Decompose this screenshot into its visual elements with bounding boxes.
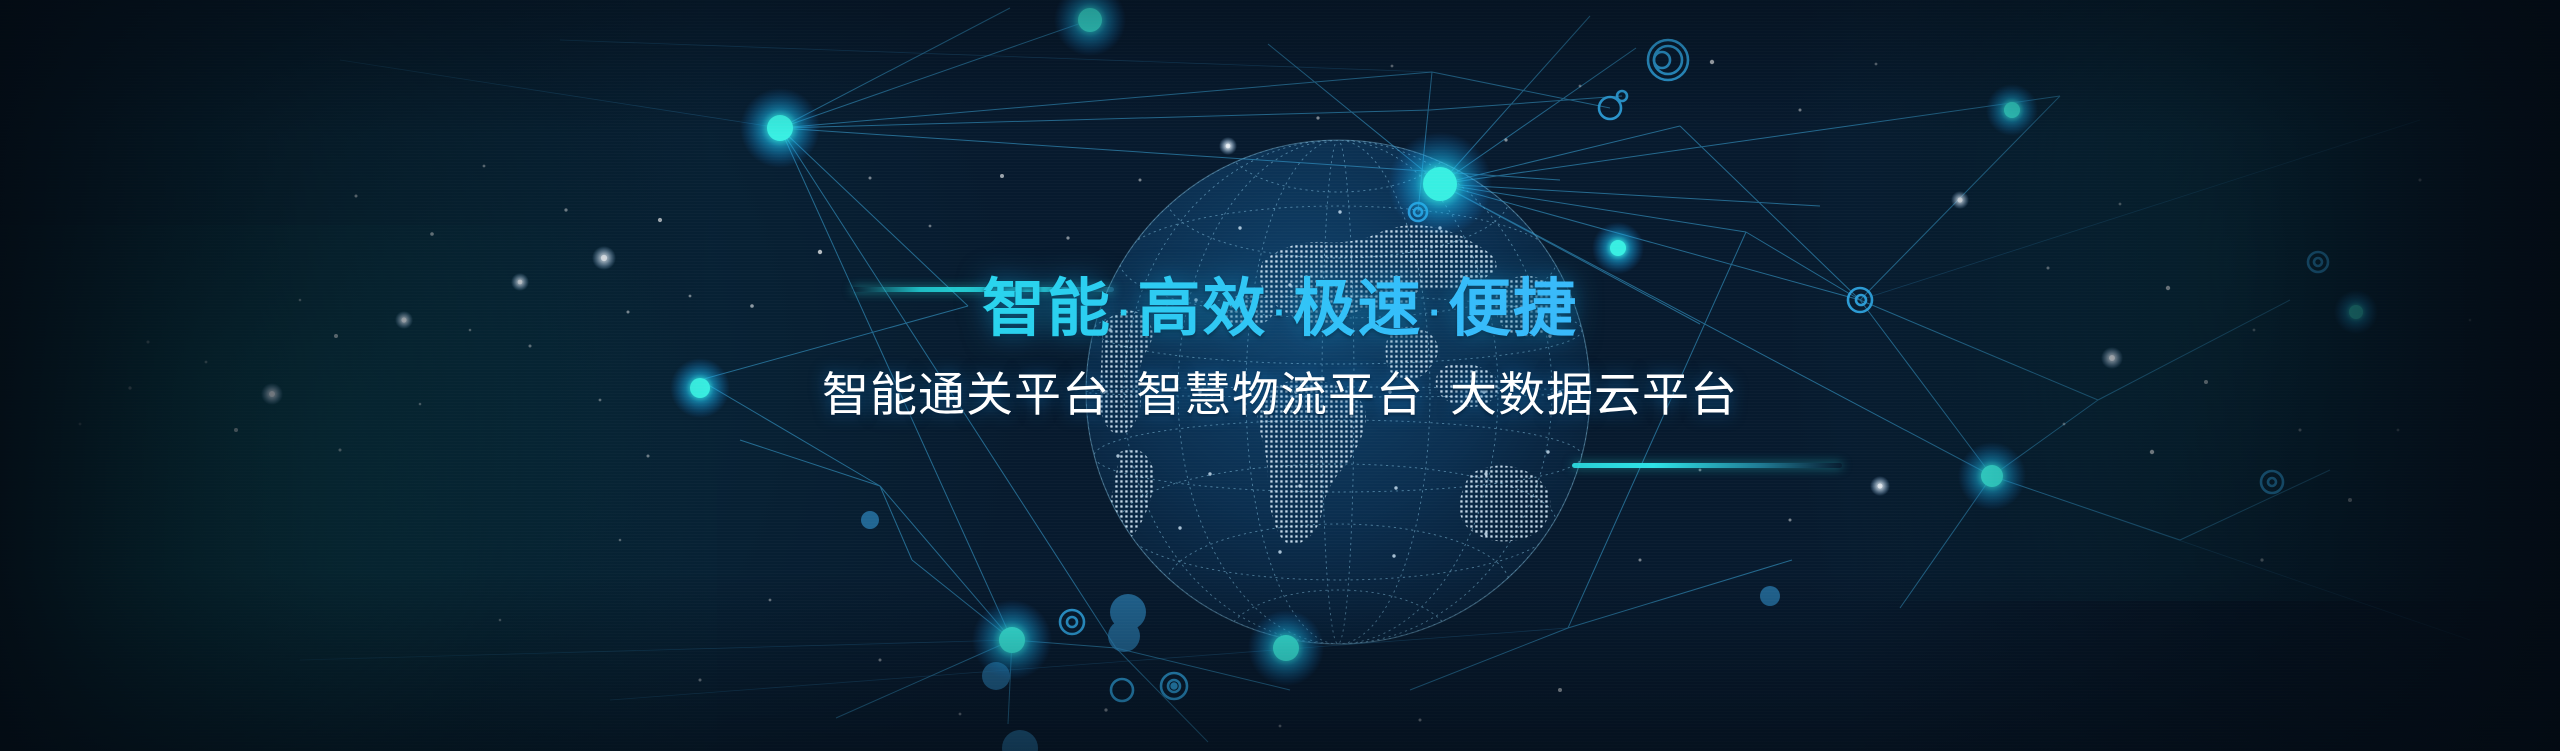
vignette-overlay bbox=[0, 0, 2560, 751]
accent-rule-bottom bbox=[1572, 463, 1842, 468]
hero-banner: 智能·高效·极速·便捷 智能通关平台智慧物流平台大数据云平台 bbox=[0, 0, 2560, 751]
accent-rule-top bbox=[852, 287, 1114, 292]
